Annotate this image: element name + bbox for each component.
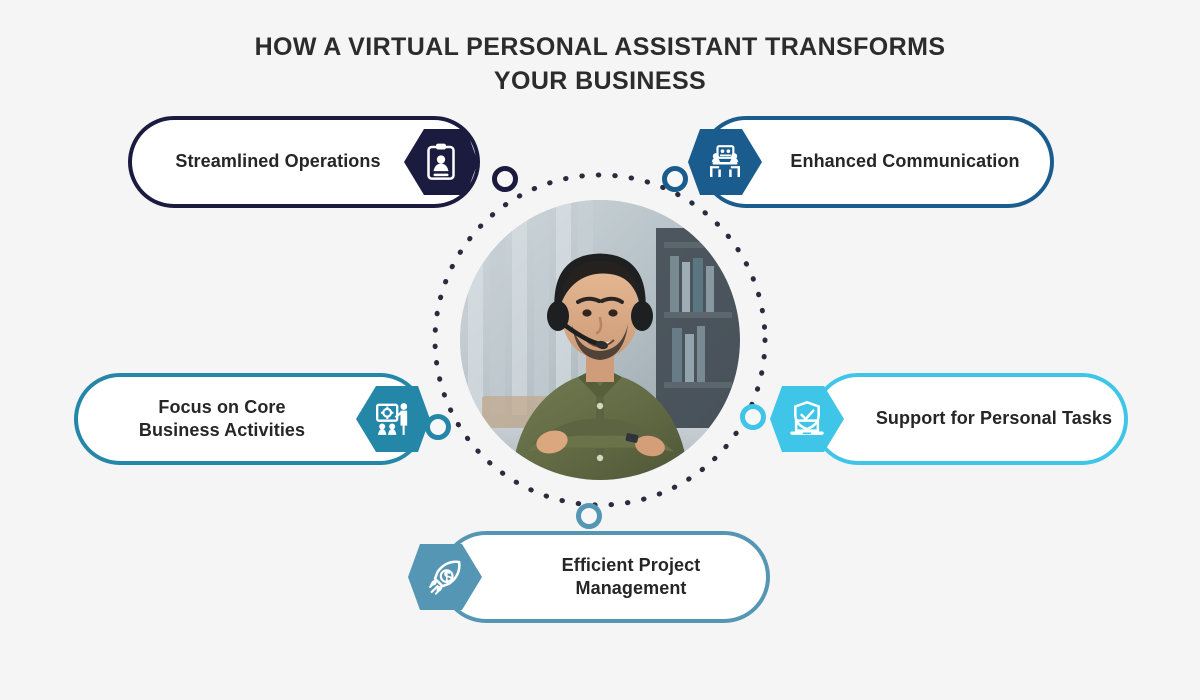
node-enhanced-communication [662,166,688,192]
center-photo [460,200,740,480]
presentation-training-icon [373,399,413,439]
badge-enhanced-communication[interactable] [688,125,762,199]
rocket-dollar-icon [425,557,465,597]
card-label-line-2: Management [496,577,766,600]
center-hub [425,165,775,515]
badge-focus-on-core-business[interactable] [356,382,430,456]
clipboard-person-icon [421,142,461,182]
badge-efficient-project-management[interactable] [408,540,482,614]
card-label-efficient-project-management: Efficient Project Management [444,554,766,600]
video-conference-icon [705,142,745,182]
card-label-line-1: Focus on Core [78,396,366,419]
infographic-canvas: HOW A VIRTUAL PERSONAL ASSISTANT TRANSFO… [0,0,1200,700]
node-efficient-project-management [576,503,602,529]
laptop-shield-icon [787,399,827,439]
page-title-line-1: HOW A VIRTUAL PERSONAL ASSISTANT TRANSFO… [0,30,1200,64]
photo-man-with-headset [460,200,740,480]
card-label-line-1: Enhanced Communication [760,150,1050,173]
card-label-line-1: Streamlined Operations [132,150,424,173]
card-label-line-1: Efficient Project [496,554,766,577]
card-label-line-1: Support for Personal Tasks [864,407,1124,430]
card-label-support-personal-tasks: Support for Personal Tasks [816,407,1124,430]
badge-support-personal-tasks[interactable] [770,382,844,456]
node-streamlined-operations [492,166,518,192]
node-support-personal-tasks [740,404,766,430]
card-efficient-project-management[interactable]: Efficient Project Management [440,531,770,623]
card-support-personal-tasks[interactable]: Support for Personal Tasks [812,373,1128,465]
card-label-line-2: Business Activities [78,419,366,442]
badge-streamlined-operations[interactable] [404,125,478,199]
page-title-line-2: YOUR BUSINESS [0,64,1200,98]
page-title: HOW A VIRTUAL PERSONAL ASSISTANT TRANSFO… [0,30,1200,98]
